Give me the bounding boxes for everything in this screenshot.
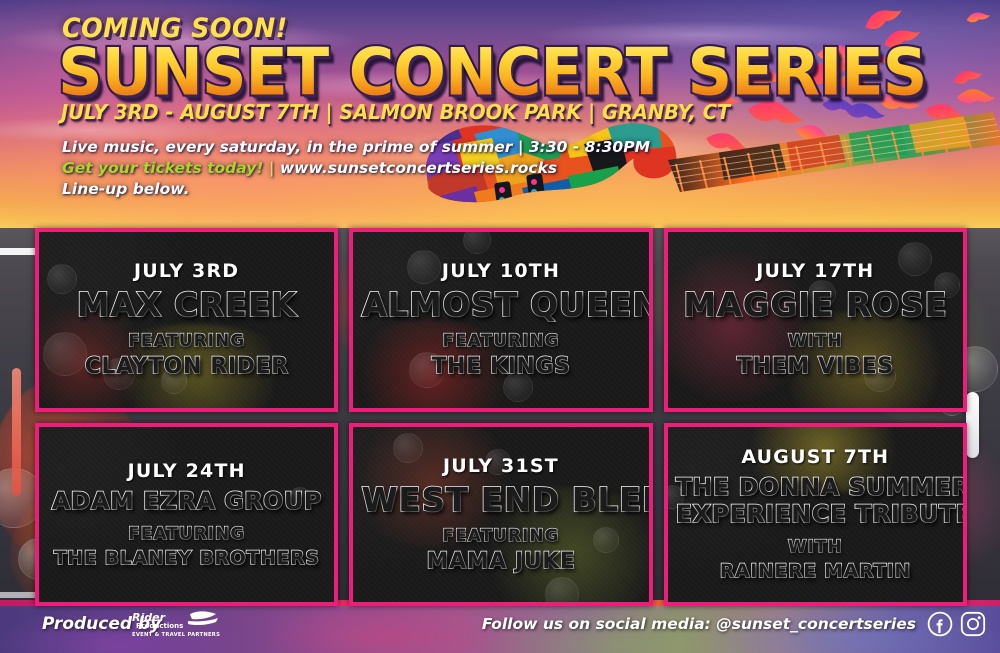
card-headliner: WEST END BLEND — [361, 483, 640, 517]
website-url[interactable]: www.sunsetconcertseries.rocks — [280, 159, 557, 177]
card-support-act: THE KINGS — [361, 354, 640, 379]
facebook-icon[interactable] — [927, 611, 953, 637]
card-support-act: THE BLANEY BROTHERS — [47, 547, 326, 569]
card-headliner: MAX CREEK — [47, 288, 326, 322]
info-line-schedule: Live music, every saturday, in the prime… — [62, 138, 650, 156]
card-connector: FEATURING — [47, 331, 326, 351]
card-connector: FEATURING — [47, 524, 326, 544]
decor-pill-left — [12, 368, 21, 496]
logo-sub: Productions — [136, 622, 183, 630]
card-support-act: CLAYTON RIDER — [47, 354, 326, 379]
card-headliner: ADAM EZRA GROUP — [47, 488, 326, 515]
lineup-card[interactable]: AUGUST 7TH THE DONNA SUMMEREXPERIENCE TR… — [664, 423, 967, 607]
concert-poster: COMING SOON! SUNSET CONCERT SERIES SUNSE… — [0, 0, 1000, 653]
card-support-act: MAMA JUKE — [361, 549, 640, 574]
boat-icon — [190, 611, 216, 619]
card-date: JULY 31ST — [361, 455, 640, 477]
dates-venue-line: JULY 3RD - AUGUST 7TH | SALMON BROOK PAR… — [61, 100, 730, 124]
lineup-card[interactable]: JULY 24TH ADAM EZRA GROUP FEATURING THE … — [35, 423, 338, 607]
rider-productions-logo[interactable]: Rider Productions EVENT & TRAVEL PARTNER… — [128, 609, 220, 639]
lineup-grid: JULY 3RD MAX CREEK FEATURING CLAYTON RID… — [35, 228, 967, 606]
tickets-cta[interactable]: Get your tickets today! — [62, 159, 263, 177]
card-headliner: ALMOST QUEEN — [361, 288, 640, 322]
card-date: AUGUST 7TH — [676, 446, 955, 468]
text-separator: | — [263, 159, 279, 177]
instagram-icon[interactable] — [960, 611, 986, 637]
card-date: JULY 17TH — [676, 260, 955, 282]
decor-stripe-left — [0, 248, 36, 255]
follow-us-text: Follow us on social media: @sunset_conce… — [482, 615, 916, 633]
card-support-act: RAINERE MARTIN — [676, 560, 955, 582]
card-connector: WITH — [676, 331, 955, 351]
card-support-act: THEM VIBES — [676, 354, 955, 379]
page-title: SUNSET CONCERT SERIES — [58, 40, 926, 105]
lineup-card[interactable]: JULY 17TH MAGGIE ROSE WITH THEM VIBES — [664, 228, 967, 412]
info-line-lineup: Line-up below. — [62, 180, 189, 198]
lineup-card[interactable]: JULY 3RD MAX CREEK FEATURING CLAYTON RID… — [35, 228, 338, 412]
card-date: JULY 24TH — [47, 460, 326, 482]
lineup-card[interactable]: JULY 10TH ALMOST QUEEN FEATURING THE KIN… — [349, 228, 652, 412]
decor-pill-right — [966, 392, 979, 458]
logo-tagline: EVENT & TRAVEL PARTNERS — [132, 632, 220, 638]
card-headliner: THE DONNA SUMMEREXPERIENCE TRIBUTE — [676, 474, 955, 528]
card-headliner: MAGGIE ROSE — [676, 288, 955, 322]
card-date: JULY 3RD — [47, 260, 326, 282]
card-connector: FEATURING — [361, 331, 640, 351]
card-connector: WITH — [676, 537, 955, 557]
card-connector: FEATURING — [361, 526, 640, 546]
card-date: JULY 10TH — [361, 260, 640, 282]
info-line-tickets: Get your tickets today! | www.sunsetconc… — [62, 159, 557, 177]
lineup-card[interactable]: JULY 31ST WEST END BLEND FEATURING MAMA … — [349, 423, 652, 607]
